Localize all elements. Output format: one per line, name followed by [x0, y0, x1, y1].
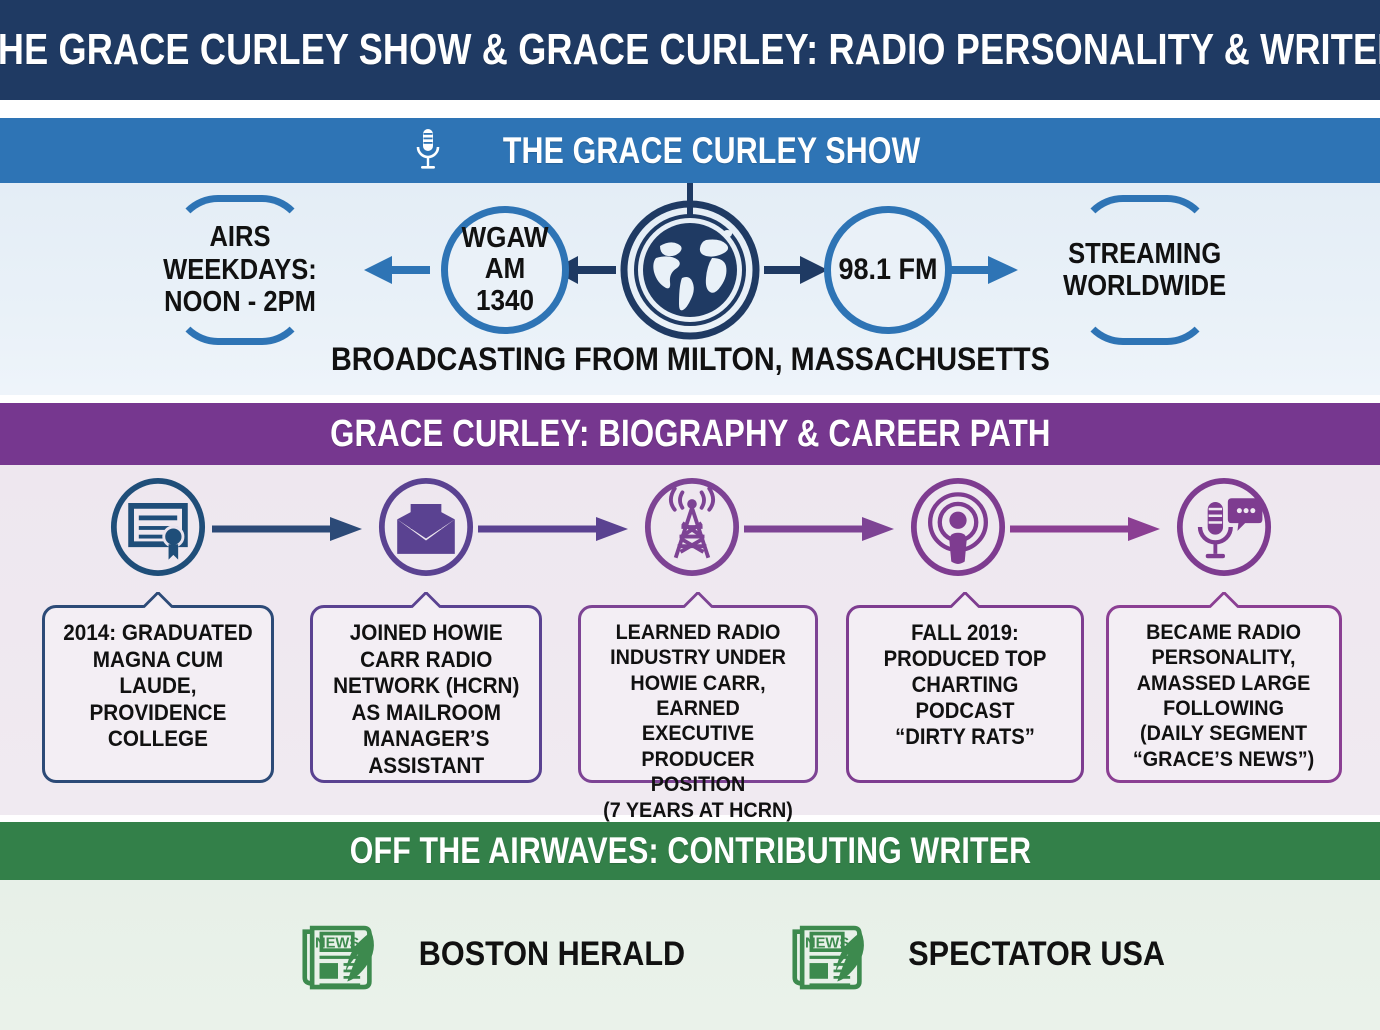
- box4-line1: FALL 2019:: [866, 620, 1065, 646]
- node-airs-weekdays: AIRS WEEKDAYS: NOON - 2PM: [120, 205, 360, 335]
- radio-section-header: THE GRACE CURLEY SHOW: [0, 118, 1380, 183]
- timeline-box-4: FALL 2019: PRODUCED TOP CHARTING PODCAST…: [846, 605, 1084, 783]
- box3-line6: (7 YEARS AT HCRN): [598, 798, 799, 823]
- writer-section-header: OFF THE AIRWAVES: CONTRIBUTING WRITER: [0, 822, 1380, 880]
- box2-line3: NETWORK (HCRN): [333, 673, 519, 700]
- timeline-box-5: BECAME RADIO PERSONALITY, AMASSED LARGE …: [1106, 605, 1342, 783]
- timeline-icon-microphone-chat: [1176, 477, 1272, 577]
- box1-line3: LAUDE,: [63, 673, 252, 700]
- main-title-bar: THE GRACE CURLEY SHOW & GRACE CURLEY: RA…: [0, 0, 1380, 100]
- box1-line1: 2014: GRADUATED: [63, 620, 252, 647]
- publication-boston-herald: NEWS BOSTON HERALD: [290, 904, 700, 1005]
- arc-top-decoration: [1077, 195, 1213, 241]
- box5-line5: (DAILY SEGMENT: [1133, 721, 1314, 746]
- newspaper-quill-icon: NEWS: [290, 904, 386, 1005]
- box2-line1: JOINED HOWIE: [333, 620, 519, 647]
- timeline-box-2: JOINED HOWIE CARR RADIO NETWORK (HCRN) A…: [310, 605, 542, 783]
- box5-line1: BECAME RADIO: [1133, 620, 1314, 645]
- box1-line5: COLLEGE: [63, 726, 252, 753]
- timeline-icon-radio-tower: [644, 477, 740, 577]
- airs-weekdays-line2: NOON - 2PM: [139, 286, 341, 318]
- box-notch: [1207, 592, 1241, 609]
- radio-section-body: AIRS WEEKDAYS: NOON - 2PM WGAW AM 1340: [0, 183, 1380, 395]
- writer-section-body: NEWS BOSTON HERALD: [0, 880, 1380, 1030]
- box3-line4: EARNED EXECUTIVE: [598, 696, 799, 747]
- box2-line2: CARR RADIO: [333, 647, 519, 674]
- timeline-icon-certificate: [110, 477, 206, 577]
- box3-line2: INDUSTRY UNDER: [598, 645, 799, 670]
- box-notch: [141, 592, 175, 609]
- box5-line3: AMASSED LARGE: [1133, 671, 1314, 696]
- radio-section-title: THE GRACE CURLEY SHOW: [503, 130, 921, 172]
- box5-line6: “GRACE’S NEWS”): [1133, 747, 1314, 772]
- box5-line4: FOLLOWING: [1133, 696, 1314, 721]
- timeline-icons: [0, 477, 1380, 582]
- streaming-line2: WORLDWIDE: [1063, 270, 1226, 302]
- bio-section-header: GRACE CURLEY: BIOGRAPHY & CAREER PATH: [0, 403, 1380, 465]
- page-title: THE GRACE CURLEY SHOW & GRACE CURLEY: RA…: [0, 25, 1380, 75]
- box5-line2: PERSONALITY,: [1133, 645, 1314, 670]
- newspaper-quill-icon: NEWS: [780, 904, 876, 1005]
- broadcast-location: BROADCASTING FROM MILTON, MASSACHUSETTS: [0, 341, 1380, 378]
- microphone-icon: [413, 128, 443, 174]
- box2-line6: ASSISTANT: [333, 753, 519, 780]
- radio-node-row: AIRS WEEKDAYS: NOON - 2PM WGAW AM 1340: [0, 205, 1380, 335]
- svg-text:NEWS: NEWS: [805, 935, 849, 951]
- timeline-icon-envelope: [378, 477, 474, 577]
- box2-line5: MANAGER’S: [333, 726, 519, 753]
- box-notch: [948, 592, 982, 609]
- box2-line4: AS MAILROOM: [333, 700, 519, 727]
- box4-line4: “DIRTY RATS”: [866, 724, 1065, 750]
- wgaw-line2: AM 1340: [454, 254, 557, 317]
- infographic-page: THE GRACE CURLEY SHOW & GRACE CURLEY: RA…: [0, 0, 1380, 1030]
- writer-section-title: OFF THE AIRWAVES: CONTRIBUTING WRITER: [349, 830, 1030, 872]
- box3-line5: PRODUCER POSITION: [598, 747, 799, 798]
- box3-line3: HOWIE CARR,: [598, 671, 799, 696]
- node-wgaw: WGAW AM 1340: [430, 205, 580, 335]
- node-streaming: STREAMING WORLDWIDE: [1020, 205, 1270, 335]
- box4-line3: CHARTING PODCAST: [866, 672, 1065, 724]
- box1-line2: MAGNA CUM: [63, 647, 252, 674]
- svg-text:NEWS: NEWS: [315, 935, 359, 951]
- publication-name: SPECTATOR USA: [894, 935, 1179, 974]
- timeline-icon-podcast: [910, 477, 1006, 577]
- bio-section-title: GRACE CURLEY: BIOGRAPHY & CAREER PATH: [330, 413, 1050, 456]
- timeline-box-1: 2014: GRADUATED MAGNA CUM LAUDE, PROVIDE…: [42, 605, 274, 783]
- streaming-line1: STREAMING: [1063, 238, 1226, 270]
- timeline-box-3: LEARNED RADIO INDUSTRY UNDER HOWIE CARR,…: [578, 605, 818, 783]
- box3-line1: LEARNED RADIO: [598, 620, 799, 645]
- wgaw-line1: WGAW: [454, 223, 557, 254]
- timeline-text-boxes: 2014: GRADUATED MAGNA CUM LAUDE, PROVIDE…: [0, 593, 1380, 793]
- globe-icon: [616, 205, 764, 335]
- fm-line1: 98.1 FM: [838, 254, 937, 286]
- box1-line4: PROVIDENCE: [63, 700, 252, 727]
- box4-line2: PRODUCED TOP: [866, 646, 1065, 672]
- bio-section-body: 2014: GRADUATED MAGNA CUM LAUDE, PROVIDE…: [0, 465, 1380, 815]
- publication-spectator-usa: NEWS SPECTATOR USA: [780, 904, 1179, 1005]
- node-fm: 98.1 FM: [822, 205, 954, 335]
- box-notch: [681, 592, 715, 609]
- airs-weekdays-line1: AIRS WEEKDAYS:: [139, 221, 341, 286]
- publication-name: BOSTON HERALD: [404, 935, 700, 974]
- box-notch: [409, 592, 443, 609]
